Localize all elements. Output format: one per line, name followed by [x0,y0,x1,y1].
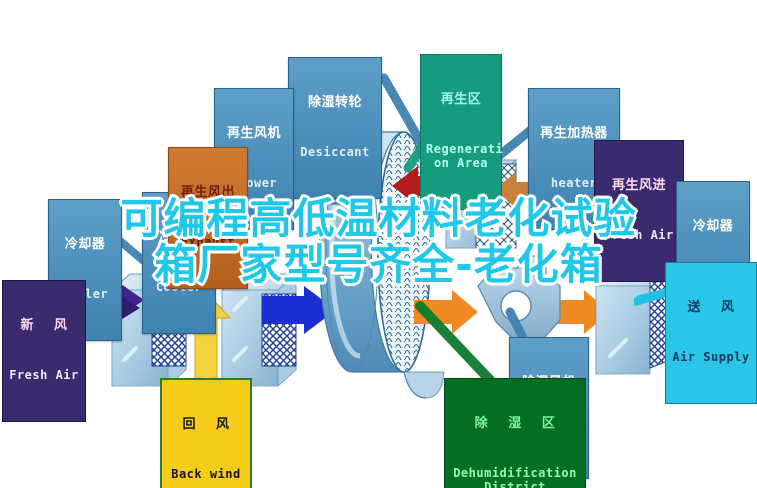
label-desiccant-wheel[interactable]: 除湿转轮 Desiccant [288,57,382,199]
label-fresh-air-inlet[interactable]: 新 风 Fresh Air [2,280,86,422]
cooler-coil-mid [222,274,296,386]
drain-pan [404,372,444,398]
label-regeneration-blower-cn: 再生风机 [220,127,288,142]
label-fresh-air-inlet-cn: 新 风 [8,319,80,334]
label-regeneration-exhaust-cn: 再生风出 [174,186,242,201]
label-fresh-air-inlet-en: Fresh Air [8,369,80,382]
label-back-wind-cn: 回 风 [167,418,245,433]
label-regeneration-exhaust-en: Exhaust [174,236,242,249]
label-air-supply[interactable]: 送 风 Air Supply [665,262,757,404]
label-desiccant-wheel-en: Desiccant [294,146,376,159]
label-back-wind[interactable]: 回 风 Back wind [160,378,252,488]
label-back-wind-en: Back wind [167,468,245,481]
label-dehumidification-district-cn: 除 湿 区 [450,417,580,432]
label-air-supply-cn: 送 风 [671,301,751,316]
diagram-canvas: 除湿转轮 Desiccant 再生风机 Blower 再生区 Regenerat… [0,0,757,488]
label-regeneration-fresh-air-en: Fresh Air [600,229,678,242]
label-dehumidification-district[interactable]: 除 湿 区 Dehumidification District [444,378,586,488]
label-regeneration-area-cn: 再生区 [426,93,496,108]
label-air-supply-en: Air Supply [671,351,751,364]
label-regeneration-area-en: Regenerati on Area [426,143,496,170]
label-regeneration-fresh-air-cn: 再生风进 [600,179,678,194]
label-dehumidification-district-en: Dehumidification District [450,467,580,488]
label-regeneration-area[interactable]: 再生区 Regenerati on Area [420,54,502,210]
label-cooler-right-cn: 冷却器 [682,220,744,235]
label-desiccant-wheel-cn: 除湿转轮 [294,96,376,111]
label-cooler-left-cn: 冷却器 [54,238,116,253]
label-regeneration-exhaust[interactable]: 再生风出 Exhaust [168,147,248,289]
